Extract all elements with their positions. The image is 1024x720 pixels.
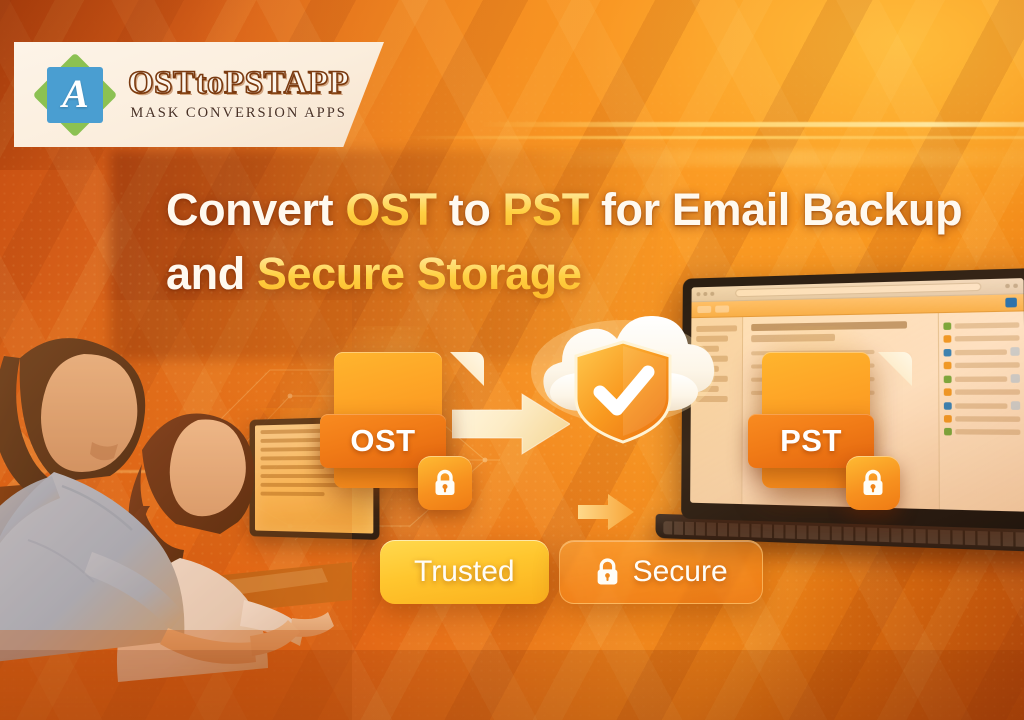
brand-logo-bar[interactable]: A OSTtoPSTAPP MASK CONVERSION APPS: [14, 42, 384, 147]
mail-message-list: [938, 311, 1024, 511]
status-dot: [944, 402, 952, 409]
message-flag: [1011, 401, 1020, 410]
window-dot: [1005, 284, 1010, 288]
file-lock-badge: [418, 456, 472, 510]
status-dot: [944, 375, 952, 382]
headline-highlight-pst: PST: [503, 184, 589, 235]
page-title: Convert OST to PST for Email Backup and …: [166, 178, 966, 306]
headline-highlight-secure-storage: Secure Storage: [257, 248, 582, 299]
status-dot: [944, 388, 952, 395]
brand-tagline: MASK CONVERSION APPS: [130, 105, 346, 122]
hero-banner: OST PST Convert OST: [0, 0, 1024, 720]
message-preview: [955, 322, 1020, 328]
status-dot: [943, 322, 951, 330]
headline-line-1: Convert OST to PST for Email Backup: [166, 178, 966, 242]
message-row: [944, 361, 1020, 369]
file-type-label: OST: [350, 423, 415, 459]
message-meta: [751, 334, 834, 342]
background-light-band: [520, 150, 1024, 166]
background-light-band: [480, 122, 1024, 127]
trust-badges: Trusted Secure: [380, 540, 763, 604]
headline-text: Convert: [166, 184, 345, 235]
file-type-label: PST: [780, 423, 842, 459]
file-lock-badge: [846, 456, 900, 510]
message-row: [944, 347, 1020, 356]
ost-file-icon: OST: [334, 352, 484, 542]
message-row: [944, 415, 1020, 423]
message-row: [944, 374, 1020, 383]
file-folded-corner: [878, 352, 912, 386]
message-row: [943, 321, 1019, 330]
shield-check-icon: [576, 342, 670, 442]
message-row: [944, 428, 1020, 436]
badge-secure-label: Secure: [633, 555, 728, 589]
badge-trusted[interactable]: Trusted: [380, 540, 549, 604]
brand-text-group: OSTtoPSTAPP MASK CONVERSION APPS: [128, 67, 349, 123]
message-subject: [751, 321, 907, 331]
brand-name: OSTtoPSTAPP: [128, 67, 349, 101]
badge-trusted-label: Trusted: [414, 555, 515, 589]
message-preview: [955, 376, 1007, 382]
letter-a-diamond-logo-icon: A: [36, 56, 114, 134]
message-preview: [955, 349, 1007, 355]
headline-line-2: and Secure Storage: [166, 242, 966, 306]
message-preview: [955, 416, 1020, 422]
status-dot: [943, 335, 951, 343]
message-preview: [955, 389, 1020, 394]
headline-highlight-ost: OST: [345, 184, 436, 235]
toolbar-primary-button: [1005, 298, 1017, 308]
message-preview: [955, 335, 1020, 341]
lock-icon: [860, 469, 886, 497]
window-dot: [1013, 284, 1018, 288]
status-dot: [944, 348, 952, 356]
message-preview: [955, 403, 1007, 408]
arrow-right-icon: [578, 492, 634, 532]
message-preview: [955, 362, 1020, 368]
message-preview: [955, 429, 1020, 435]
message-flag: [1010, 347, 1019, 356]
message-row: [944, 401, 1020, 410]
background-light-band: [400, 136, 1024, 139]
headline-text: to: [437, 184, 503, 235]
headline-text: and: [166, 248, 257, 299]
status-dot: [944, 415, 952, 423]
headline-text: for Email Backup: [589, 184, 962, 235]
message-flag: [1011, 374, 1020, 383]
message-row: [943, 334, 1019, 343]
pst-file-icon: PST: [762, 352, 912, 542]
lock-icon: [594, 557, 621, 587]
status-dot: [944, 428, 952, 436]
people-photo: [0, 300, 352, 720]
file-folded-corner: [450, 352, 484, 386]
message-row: [944, 388, 1020, 396]
status-dot: [944, 362, 952, 370]
logo-letter: A: [36, 56, 114, 134]
lock-icon: [432, 469, 458, 497]
badge-secure[interactable]: Secure: [559, 540, 763, 604]
